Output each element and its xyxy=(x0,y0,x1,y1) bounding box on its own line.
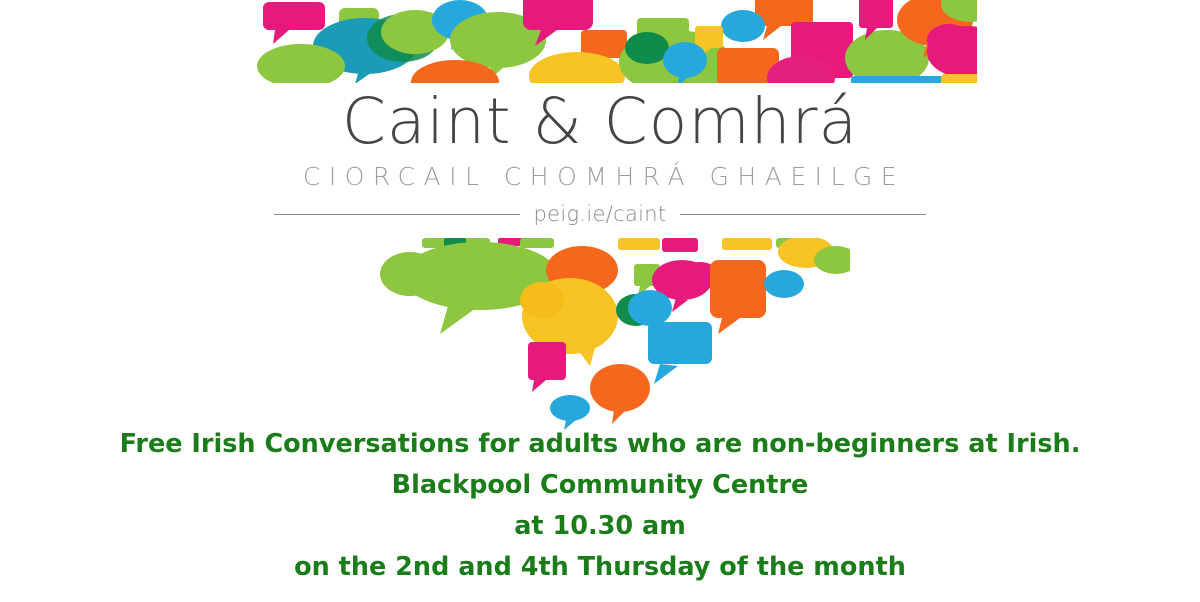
event-line-4: on the 2nd and 4th Thursday of the month xyxy=(0,547,1200,588)
speech-bubble-band xyxy=(255,0,977,83)
logo-wordmark: Caint & Comhrá CIORCAIL CHOMHRÁ GHAEILGE… xyxy=(0,84,1200,226)
logo-subtitle: CIORCAIL CHOMHRÁ GHAEILGE xyxy=(0,160,1200,194)
event-line-2: Blackpool Community Centre xyxy=(0,465,1200,506)
speech-bubble-cluster xyxy=(370,238,850,430)
divider-left xyxy=(274,214,520,215)
event-line-3: at 10.30 am xyxy=(0,506,1200,547)
logo-title: Caint & Comhrá xyxy=(0,84,1200,160)
poster-canvas: Caint & Comhrá CIORCAIL CHOMHRÁ GHAEILGE… xyxy=(0,0,1200,602)
logo-url-row: peig.ie/caint xyxy=(0,202,1200,226)
logo-url: peig.ie/caint xyxy=(534,202,667,226)
divider-right xyxy=(680,214,926,215)
event-details: Free Irish Conversations for adults who … xyxy=(0,424,1200,588)
event-line-1: Free Irish Conversations for adults who … xyxy=(0,424,1200,465)
caint-comhra-logo: Caint & Comhrá CIORCAIL CHOMHRÁ GHAEILGE… xyxy=(0,0,1200,430)
